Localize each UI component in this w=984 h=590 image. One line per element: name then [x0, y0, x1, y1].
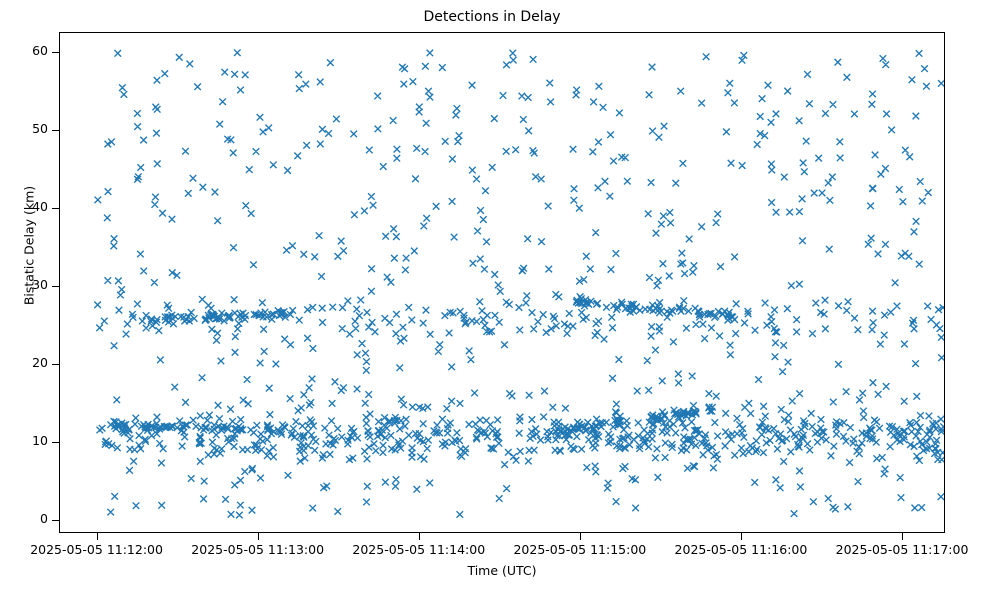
x-axis-tick-label: 2025-05-05 11:12:00: [30, 543, 163, 557]
y-axis-tick-label: 20: [32, 357, 48, 369]
y-axis-tick-label: 10: [32, 435, 48, 447]
x-axis-tick-label: 2025-05-05 11:16:00: [675, 543, 808, 557]
x-axis-tick-mark: [97, 533, 98, 540]
x-axis-tick-label: 2025-05-05 11:15:00: [513, 543, 646, 557]
x-axis-tick-label: 2025-05-05 11:14:00: [352, 543, 485, 557]
x-axis-tick-mark: [741, 533, 742, 540]
chart-title: Detections in Delay: [0, 8, 984, 26]
x-axis-tick-mark: [902, 533, 903, 540]
x-axis-tick-mark: [419, 533, 420, 540]
y-axis-tick-mark: [52, 442, 59, 443]
plot-area: [59, 32, 945, 533]
y-axis-tick-mark: [52, 520, 59, 521]
x-axis-tick-mark: [258, 533, 259, 540]
y-axis-tick-mark: [52, 52, 59, 53]
y-axis-tick-mark: [52, 130, 59, 131]
matplotlib-figure: Detections in Delay 0102030405060 2025-0…: [0, 0, 984, 590]
y-axis-tick-mark: [52, 364, 59, 365]
y-axis-tick-label: 50: [32, 123, 48, 135]
scatter-points-layer: [60, 33, 944, 532]
scatter-marker-group: [94, 49, 944, 518]
y-axis-tick-label: 60: [32, 45, 48, 57]
x-axis-tick-mark: [580, 533, 581, 540]
y-axis-tick-label: 0: [40, 513, 48, 525]
y-axis-label: Bistatic Delay (km): [22, 166, 37, 326]
x-axis-tick-label: 2025-05-05 11:13:00: [191, 543, 324, 557]
y-axis-tick-mark: [52, 286, 59, 287]
x-axis-tick-label: 2025-05-05 11:17:00: [836, 543, 969, 557]
y-axis-tick-mark: [52, 208, 59, 209]
x-axis-label: Time (UTC): [59, 563, 945, 578]
